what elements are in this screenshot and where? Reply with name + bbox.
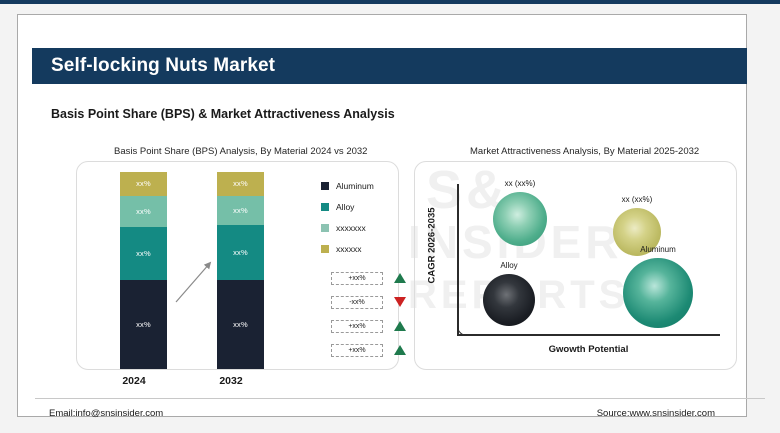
delta-value: +xx% (331, 272, 383, 285)
delta-value: +xx% (331, 320, 383, 333)
y-axis-label: CAGR 2026-2035 (427, 186, 438, 306)
header-bar: Self-locking Nuts Market (32, 48, 747, 84)
bubble-label: xx (xx%) (613, 195, 661, 204)
legend-item-xxxxxxx: xxxxxxx (321, 217, 374, 238)
legend-label: xxxxxx (336, 244, 362, 254)
triangle-up-icon (394, 273, 406, 283)
bar-segment-xxxxxx-2032: xx% (217, 172, 264, 196)
legend-item-aluminum: Aluminum (321, 175, 374, 196)
bubble-label: xx (xx%) (493, 179, 547, 188)
triangle-up-icon (394, 345, 406, 355)
legend-swatch-icon (321, 203, 329, 211)
bps-legend: Aluminum Alloy xxxxxxx xxxxxx (321, 175, 374, 259)
footer-divider (35, 398, 765, 399)
x-axis-label: Gwowth Potential (457, 344, 720, 355)
stacked-bar-2024: xx% xx% xx% xx% (120, 172, 167, 369)
delta-row: -xx% (331, 290, 406, 314)
legend-item-xxxxxx: xxxxxx (321, 238, 374, 259)
bubble-alloy (483, 274, 535, 326)
bar-segment-alloy-2032: xx% (217, 225, 264, 280)
bar-segment-xxxxxx-2024: xx% (120, 172, 167, 196)
legend-swatch-icon (321, 182, 329, 190)
bar-segment-aluminum-2024: xx% (120, 280, 167, 369)
x-axis-line (457, 334, 720, 336)
bps-axis-label-2032: 2032 (201, 375, 261, 387)
delta-value: -xx% (331, 296, 383, 309)
bar-segment-aluminum-2032: xx% (217, 280, 264, 369)
bubble-group-alloy: Alloy (483, 274, 535, 326)
top-accent-strip (0, 0, 780, 4)
legend-swatch-icon (321, 245, 329, 253)
growth-arrow-icon (173, 257, 217, 305)
legend-label: Alloy (336, 202, 354, 212)
footer-email: Email:info@snsinsider.com (49, 408, 163, 419)
legend-label: Aluminum (336, 181, 374, 191)
attractiveness-chart-title: Market Attractiveness Analysis, By Mater… (470, 146, 699, 157)
delta-row: +xx% (331, 338, 406, 362)
delta-row: +xx% (331, 266, 406, 290)
delta-value: +xx% (331, 344, 383, 357)
bar-segment-xxxxxxx-2024: xx% (120, 196, 167, 228)
page-title: Self-locking Nuts Market (32, 55, 275, 77)
delta-row: +xx% (331, 314, 406, 338)
triangle-up-icon (394, 321, 406, 331)
bar-segment-xxxxxxx-2032: xx% (217, 196, 264, 226)
bubble-aluminum (623, 258, 693, 328)
bps-chart-panel: xx% xx% xx% xx% xx% xx% xx% xx% (76, 161, 399, 370)
delta-indicator-list: +xx% -xx% +xx% +xx% (331, 266, 406, 362)
y-axis-line (457, 184, 459, 336)
legend-label: xxxxxxx (336, 223, 366, 233)
stacked-bar-2032: xx% xx% xx% xx% (217, 172, 264, 369)
bar-segment-alloy-2024: xx% (120, 227, 167, 280)
footer-source: Source:www.snsinsider.com (597, 408, 715, 419)
page-background: S& INSIDER REPORTS Self-locking Nuts Mar… (0, 0, 780, 433)
bubble-group-aluminum: Aluminum (623, 258, 693, 328)
report-card: S& INSIDER REPORTS Self-locking Nuts Mar… (17, 14, 747, 417)
page-subtitle: Basis Point Share (BPS) & Market Attract… (51, 107, 395, 121)
legend-item-alloy: Alloy (321, 196, 374, 217)
bubble-sage (493, 192, 547, 246)
bubble-label: Aluminum (623, 245, 693, 254)
attractiveness-chart-panel: CAGR 2026-2035 Gwowth Potential xx (xx%)… (414, 161, 737, 370)
bps-chart-title: Basis Point Share (BPS) Analysis, By Mat… (114, 146, 367, 157)
bps-axis-label-2024: 2024 (104, 375, 164, 387)
triangle-down-icon (394, 297, 406, 307)
bubble-label: Alloy (483, 261, 535, 270)
legend-swatch-icon (321, 224, 329, 232)
bubble-group-sage: xx (xx%) (493, 192, 547, 246)
